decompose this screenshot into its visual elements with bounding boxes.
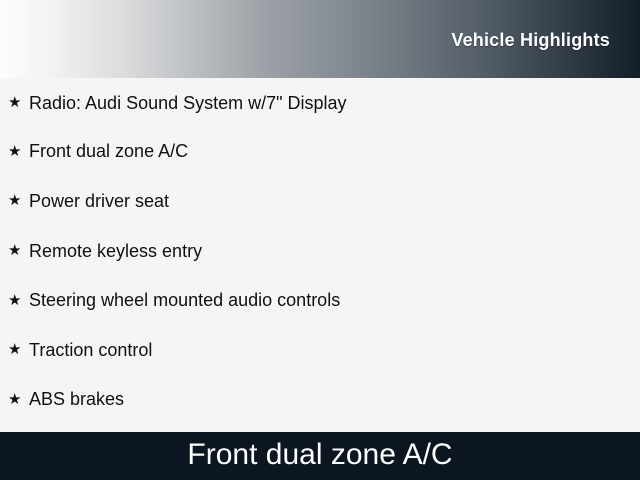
list-item-label: Radio: Audi Sound System w/7" Display xyxy=(29,94,347,114)
star-icon: ★ xyxy=(8,193,29,208)
vehicle-highlights-slide: Vehicle Highlights ★ Radio: Audi Sound S… xyxy=(0,0,640,480)
footer-caption-bar: Front dual zone A/C xyxy=(0,432,640,480)
star-icon: ★ xyxy=(8,243,29,258)
star-icon: ★ xyxy=(8,144,29,159)
list-item-label: ABS brakes xyxy=(29,390,124,410)
list-item: ★ ABS brakes xyxy=(0,376,640,426)
list-item-label: Traction control xyxy=(29,341,152,361)
star-icon: ★ xyxy=(8,342,29,357)
list-item-label: Power driver seat xyxy=(29,192,169,212)
list-item-label: Front dual zone A/C xyxy=(29,142,188,162)
star-icon: ★ xyxy=(8,293,29,308)
list-item: ★ Steering wheel mounted audio controls xyxy=(0,276,640,326)
star-icon: ★ xyxy=(8,392,29,407)
vehicle-highlights-list: ★ Radio: Audi Sound System w/7" Display … xyxy=(0,78,640,432)
header-banner: Vehicle Highlights xyxy=(0,0,640,78)
footer-caption-text: Front dual zone A/C xyxy=(187,440,452,470)
list-item: ★ Radio: Audi Sound System w/7" Display xyxy=(0,78,640,128)
list-item: ★ Remote keyless entry xyxy=(0,227,640,277)
list-item-label: Remote keyless entry xyxy=(29,242,202,262)
list-item: ★ Power driver seat xyxy=(0,177,640,227)
list-item-label: Steering wheel mounted audio controls xyxy=(29,291,340,311)
page-title: Vehicle Highlights xyxy=(451,30,610,51)
list-item: ★ Traction control xyxy=(0,326,640,376)
star-icon: ★ xyxy=(8,95,29,110)
list-item: ★ Front dual zone A/C xyxy=(0,128,640,178)
